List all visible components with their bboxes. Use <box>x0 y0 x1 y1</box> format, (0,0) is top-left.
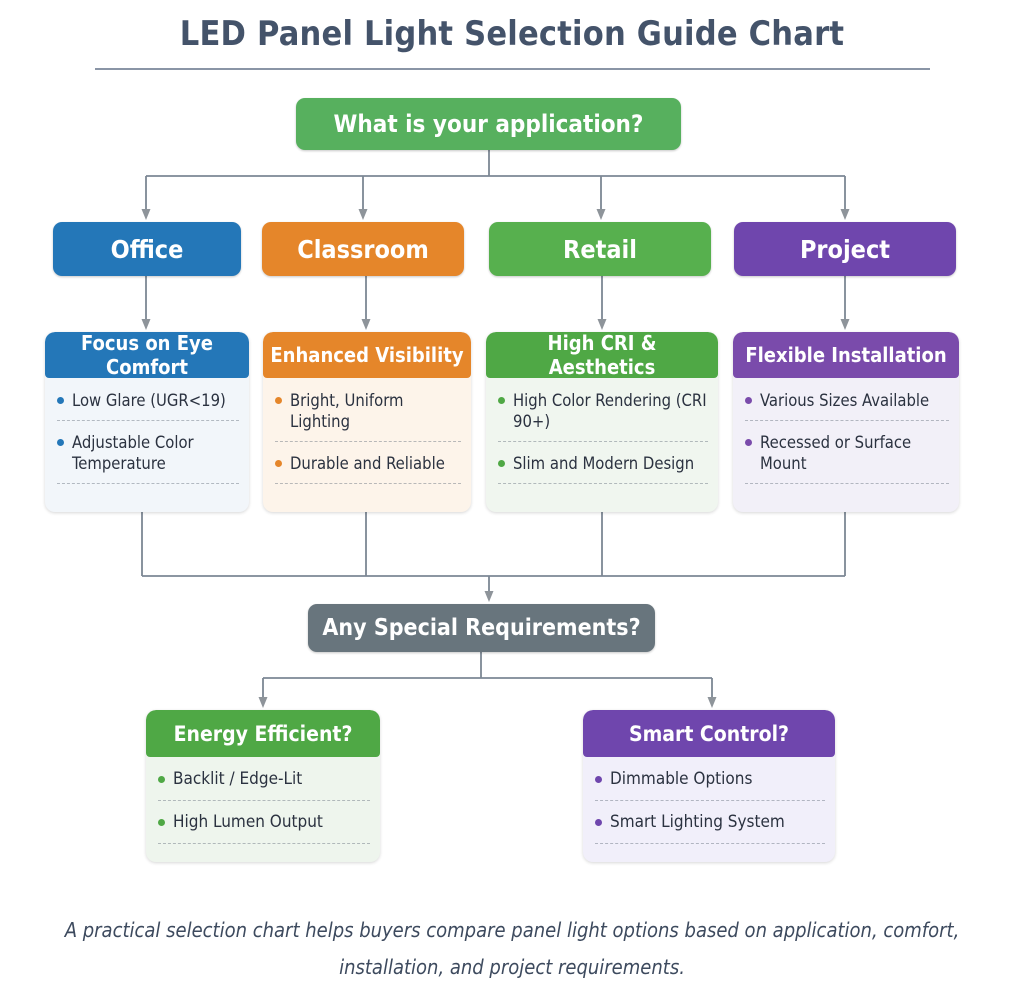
bullet-text: Backlit / Edge-Lit <box>173 769 302 791</box>
card-body: Backlit / Edge-Lit High Lumen Output <box>146 757 380 854</box>
list-item: Dimmable Options <box>595 769 825 801</box>
bullet-dot-icon <box>158 819 165 826</box>
bullet-text: Recessed or Surface Mount <box>760 432 949 474</box>
outcome-card-energy-efficient: Energy Efficient? Backlit / Edge-Lit Hig… <box>146 710 380 862</box>
bullet-text: Low Glare (UGR<19) <box>72 390 226 411</box>
bullet-dot-icon <box>595 776 602 783</box>
flowchart-canvas: LED Panel Light Selection Guide Chart Wh… <box>0 0 1024 991</box>
node-category-retail[interactable]: Retail <box>489 222 711 276</box>
card-body: Bright, Uniform Lighting Durable and Rel… <box>263 378 471 494</box>
bullet-dot-icon <box>275 460 282 467</box>
card-header: Flexible Installation <box>733 332 959 378</box>
node-special-requirements[interactable]: Any Special Requirements? <box>308 604 655 652</box>
list-item: Low Glare (UGR<19) <box>57 390 239 421</box>
bullet-text: Dimmable Options <box>610 769 752 791</box>
list-item: Various Sizes Available <box>745 390 949 421</box>
list-item: Adjustable Color Temperature <box>57 432 239 484</box>
list-item: Smart Lighting System <box>595 812 825 844</box>
card-body: High Color Rendering (CRI 90+) Slim and … <box>486 378 718 494</box>
title-block: LED Panel Light Selection Guide Chart <box>0 14 1024 55</box>
bullet-text: Adjustable Color Temperature <box>72 432 239 474</box>
card-body: Dimmable Options Smart Lighting System <box>583 757 835 854</box>
detail-card-classroom: Enhanced Visibility Bright, Uniform Ligh… <box>263 332 471 512</box>
node-root-question[interactable]: What is your application? <box>296 98 681 150</box>
bullet-text: Durable and Reliable <box>290 453 445 474</box>
page-title: LED Panel Light Selection Guide Chart <box>0 14 1024 55</box>
bullet-text: Various Sizes Available <box>760 390 929 411</box>
bullet-dot-icon <box>57 439 64 446</box>
node-special-label: Any Special Requirements? <box>322 615 640 641</box>
bullet-dot-icon <box>498 397 505 404</box>
bullet-dot-icon <box>275 397 282 404</box>
bullet-dot-icon <box>158 776 165 783</box>
list-item: Bright, Uniform Lighting <box>275 390 461 442</box>
card-header: High CRI & Aesthetics <box>486 332 718 378</box>
bullet-dot-icon <box>745 439 752 446</box>
card-body: Various Sizes Available Recessed or Surf… <box>733 378 959 494</box>
card-header: Smart Control? <box>583 710 835 757</box>
card-body: Low Glare (UGR<19) Adjustable Color Temp… <box>45 378 249 494</box>
node-root-label: What is your application? <box>334 110 644 138</box>
category-label: Office <box>111 235 184 264</box>
list-item: High Lumen Output <box>158 812 370 844</box>
category-label: Classroom <box>297 235 429 264</box>
title-divider <box>95 68 930 70</box>
list-item: Recessed or Surface Mount <box>745 432 949 484</box>
card-header: Energy Efficient? <box>146 710 380 757</box>
detail-card-retail: High CRI & Aesthetics High Color Renderi… <box>486 332 718 512</box>
bullet-dot-icon <box>498 460 505 467</box>
bullet-text: High Lumen Output <box>173 812 323 834</box>
category-label: Retail <box>563 235 637 264</box>
list-item: Backlit / Edge-Lit <box>158 769 370 801</box>
bullet-dot-icon <box>745 397 752 404</box>
list-item: Durable and Reliable <box>275 453 461 484</box>
node-category-office[interactable]: Office <box>53 222 241 276</box>
bullet-dot-icon <box>57 397 64 404</box>
detail-card-project: Flexible Installation Various Sizes Avai… <box>733 332 959 512</box>
category-label: Project <box>800 235 890 264</box>
bullet-text: High Color Rendering (CRI 90+) <box>513 390 708 432</box>
card-header: Focus on Eye Comfort <box>45 332 249 378</box>
detail-card-office: Focus on Eye Comfort Low Glare (UGR<19) … <box>45 332 249 512</box>
bullet-dot-icon <box>595 819 602 826</box>
node-category-project[interactable]: Project <box>734 222 956 276</box>
bullet-text: Bright, Uniform Lighting <box>290 390 461 432</box>
card-header: Enhanced Visibility <box>263 332 471 378</box>
bullet-text: Slim and Modern Design <box>513 453 694 474</box>
list-item: High Color Rendering (CRI 90+) <box>498 390 708 442</box>
outcome-card-smart-control: Smart Control? Dimmable Options Smart Li… <box>583 710 835 862</box>
list-item: Slim and Modern Design <box>498 453 708 484</box>
chart-caption: A practical selection chart helps buyers… <box>62 912 962 986</box>
bullet-text: Smart Lighting System <box>610 812 785 834</box>
node-category-classroom[interactable]: Classroom <box>262 222 464 276</box>
